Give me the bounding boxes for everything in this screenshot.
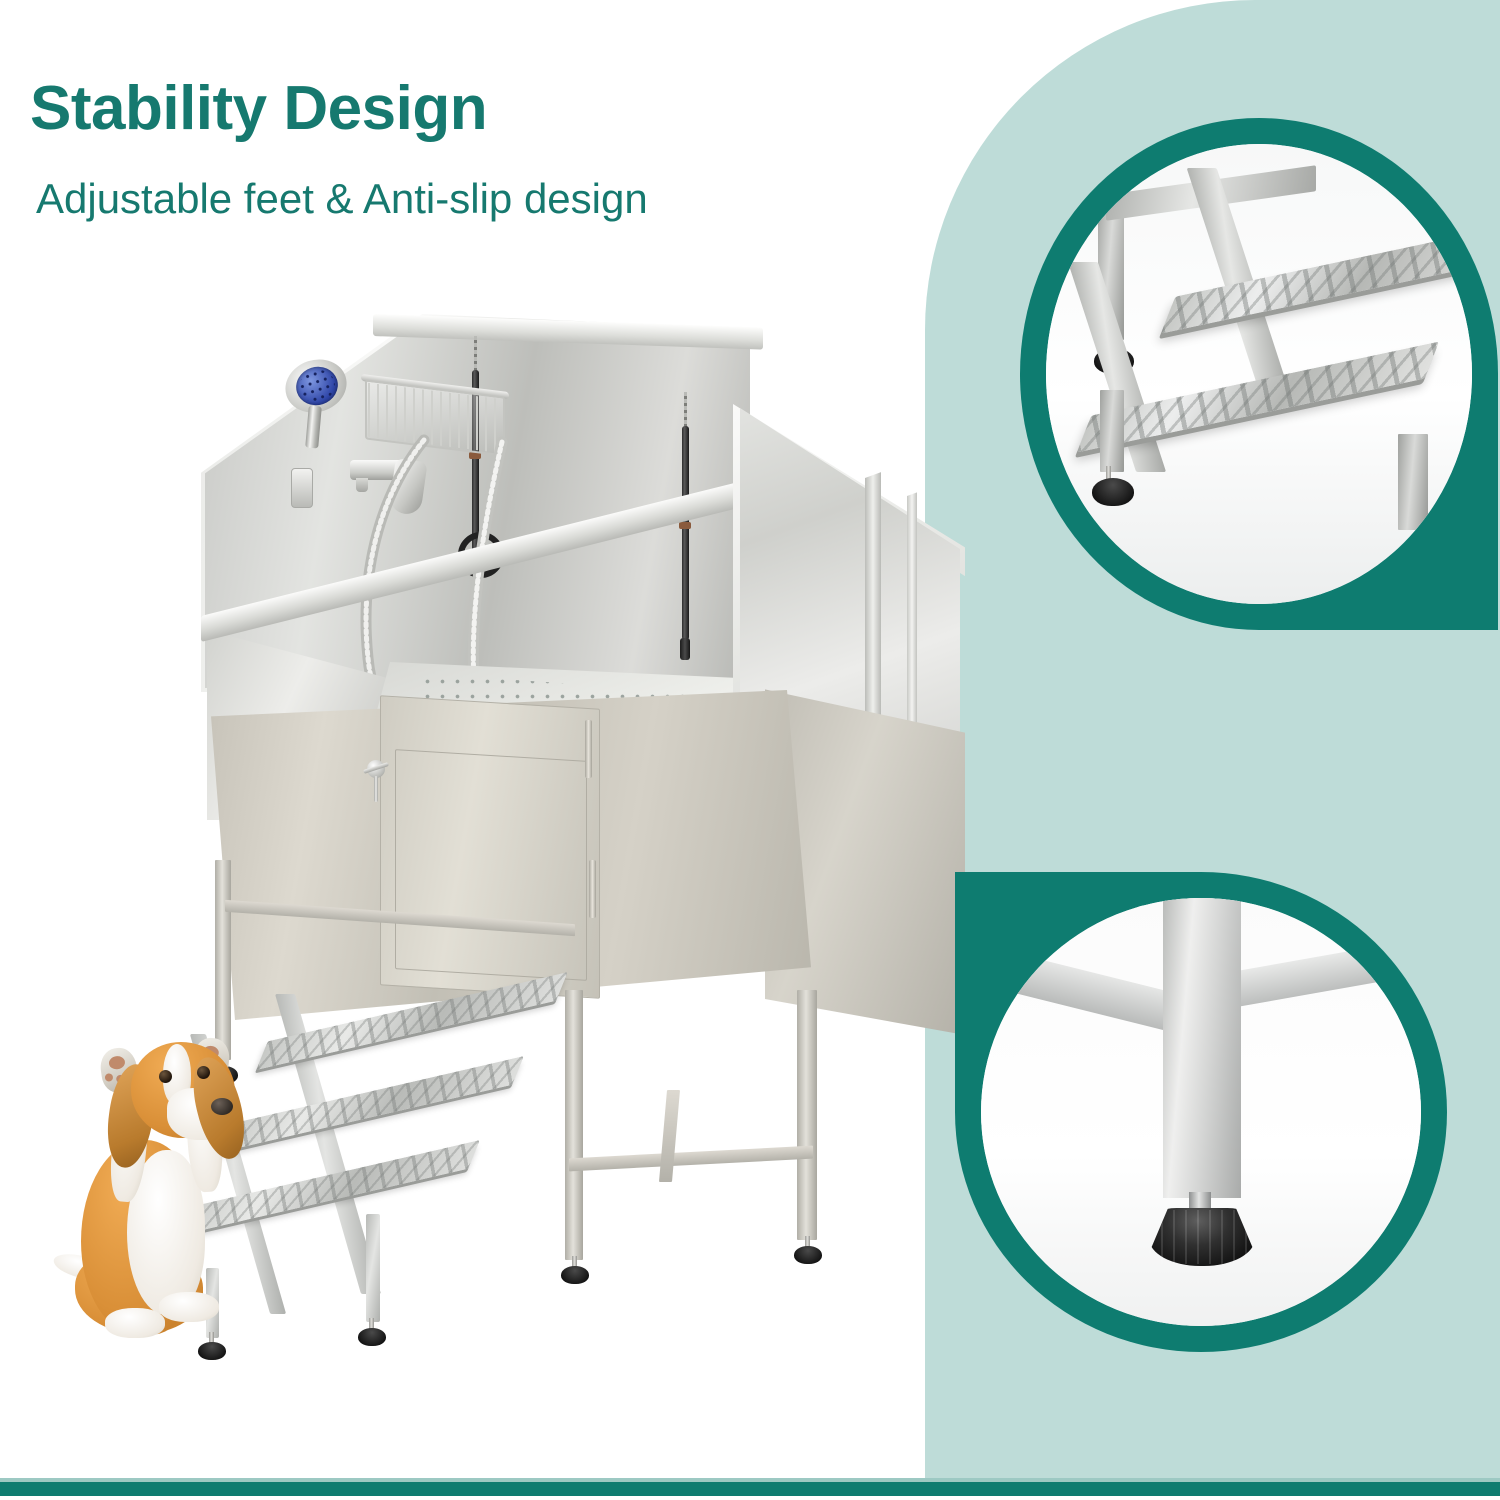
dog-eye-right [197, 1066, 210, 1079]
faucet-mixer [350, 452, 450, 522]
closeup-cross-brace-right [1231, 938, 1421, 1008]
heading-block: Stability Design Adjustable feet & Anti-… [28, 78, 908, 220]
shower-head [285, 360, 355, 430]
stair-post-right [366, 1214, 380, 1322]
beagle-dog [75, 1020, 285, 1350]
restraint-leash-left [455, 336, 495, 636]
closeup-adjustable-foot-b [1092, 478, 1134, 506]
footer-bottom-edge [0, 1496, 1500, 1500]
closeup-tread-upper [1161, 224, 1472, 333]
callout-image-area [981, 898, 1421, 1326]
leg-brace-vertical [659, 1090, 680, 1182]
cabinet-hinge-bottom [589, 860, 596, 918]
adjustable-foot-back-right [794, 1246, 822, 1264]
page-title: Stability Design [30, 78, 908, 140]
callout-adjustable-foot [955, 872, 1447, 1352]
cabinet-door-panel-line [395, 749, 587, 981]
faucet-outlet [356, 478, 368, 492]
footer-accent-band [0, 1482, 1500, 1496]
anti-slip-steps-closeup-image [1046, 144, 1472, 604]
adjustable-foot-closeup-image [981, 898, 1421, 1326]
closeup-cross-brace-left [989, 947, 1179, 1034]
leash-strap [682, 426, 689, 640]
stair-adjustable-foot-right [358, 1328, 386, 1346]
faucet-lever [388, 458, 427, 516]
closeup-square-leg [1163, 898, 1241, 1198]
shower-wall-bracket [291, 468, 313, 508]
dog-rear-foot-right [159, 1292, 219, 1322]
dog-paw-pad [108, 1055, 126, 1070]
restraint-leash-right [665, 392, 705, 722]
leash-slider [679, 522, 691, 529]
dog-toe-pad [104, 1073, 113, 1082]
callout-image-area [1046, 144, 1472, 604]
dog-rear-foot-left [105, 1308, 165, 1338]
leash-chain [684, 392, 687, 428]
dog-eye-left [159, 1070, 172, 1083]
leash-clip [680, 638, 690, 660]
closeup-post-right [1398, 434, 1428, 530]
footer-bar [0, 1478, 1500, 1500]
cabinet-door-latch [361, 752, 391, 800]
dog-nose [211, 1098, 233, 1115]
leash-chain [474, 336, 477, 372]
cabinet-hinge-top [585, 720, 592, 778]
latch-arm [374, 776, 378, 802]
infographic-page: Stability Design Adjustable feet & Anti-… [0, 0, 1500, 1500]
closeup-post-left [1100, 390, 1124, 472]
callout-anti-slip-steps [1020, 118, 1498, 630]
leg-brace-horizontal [569, 1146, 813, 1172]
leg-back-right [797, 990, 817, 1240]
closeup-foot-pad-ribs [1149, 1210, 1255, 1264]
page-subtitle: Adjustable feet & Anti-slip design [36, 178, 908, 220]
